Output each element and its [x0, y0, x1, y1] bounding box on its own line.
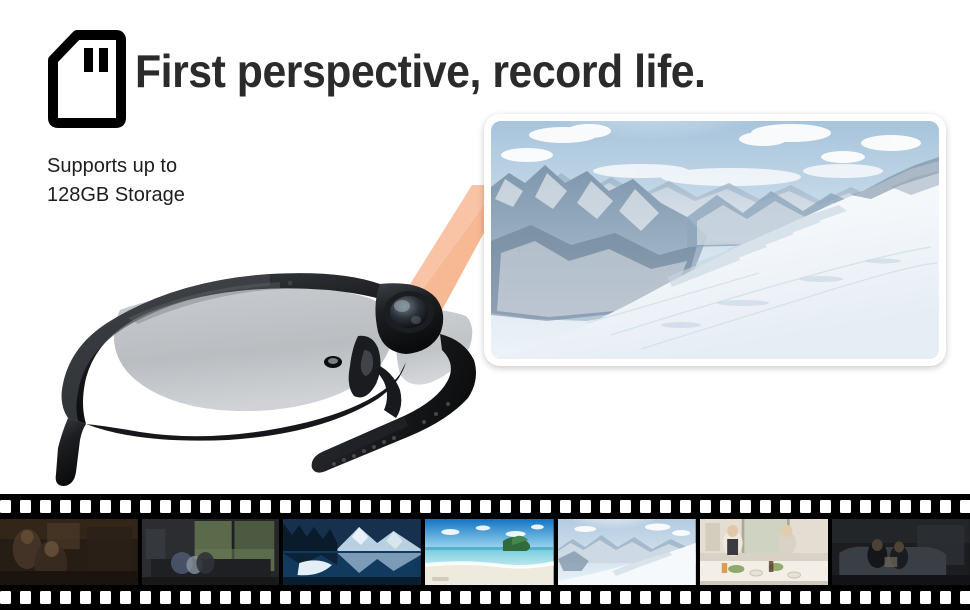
sprocket-hole — [720, 500, 731, 513]
sprocket-hole — [40, 591, 51, 604]
sprocket-hole — [120, 591, 131, 604]
sprocket-hole — [340, 500, 351, 513]
film-frame-couple-on-sofa-night[interactable] — [832, 519, 970, 585]
storage-note-line2: 128GB Storage — [47, 181, 185, 210]
sprocket-hole — [140, 591, 151, 604]
sprocket-hole — [280, 500, 291, 513]
sprocket-hole — [300, 500, 311, 513]
sprocket-hole — [260, 591, 271, 604]
sprocket-hole — [560, 591, 571, 604]
sprocket-hole — [300, 591, 311, 604]
sprocket-hole — [400, 500, 411, 513]
sprocket-hole — [480, 591, 491, 604]
sprocket-hole — [260, 500, 271, 513]
sprocket-hole — [440, 500, 451, 513]
sprocket-hole — [840, 591, 851, 604]
sd-card-icon — [46, 30, 128, 128]
sprocket-hole — [580, 500, 591, 513]
sprocket-hole — [900, 500, 911, 513]
sprocket-hole — [900, 591, 911, 604]
sprocket-hole — [20, 500, 31, 513]
sprocket-hole — [120, 500, 131, 513]
film-frame-tropical-beach[interactable] — [425, 519, 554, 585]
sprocket-hole — [500, 591, 511, 604]
sprocket-hole — [380, 591, 391, 604]
sprocket-hole — [200, 500, 211, 513]
sprocket-row-bottom — [0, 591, 970, 604]
sprocket-hole — [80, 591, 91, 604]
film-strip — [0, 494, 970, 610]
sprocket-hole — [0, 500, 11, 513]
sprocket-hole — [680, 591, 691, 604]
sprocket-hole — [180, 500, 191, 513]
sprocket-hole — [620, 500, 631, 513]
sprocket-hole — [540, 500, 551, 513]
sprocket-hole — [460, 591, 471, 604]
sprocket-hole — [0, 591, 11, 604]
sprocket-hole — [720, 591, 731, 604]
sprocket-hole — [320, 500, 331, 513]
sprocket-hole — [740, 591, 751, 604]
sprocket-hole — [80, 500, 91, 513]
sprocket-hole — [340, 591, 351, 604]
sprocket-hole — [420, 500, 431, 513]
sprocket-hole — [220, 500, 231, 513]
sprocket-hole — [640, 591, 651, 604]
sprocket-hole — [240, 500, 251, 513]
sprocket-hole — [160, 500, 171, 513]
sprocket-hole — [140, 500, 151, 513]
sprocket-hole — [360, 500, 371, 513]
sprocket-hole — [400, 591, 411, 604]
sprocket-hole — [160, 591, 171, 604]
photo-image — [491, 121, 939, 359]
sprocket-hole — [920, 591, 931, 604]
sprocket-hole — [860, 591, 871, 604]
sprocket-hole — [480, 500, 491, 513]
sprocket-hole — [760, 500, 771, 513]
sprocket-hole — [380, 500, 391, 513]
sprocket-hole — [880, 500, 891, 513]
sprocket-hole — [740, 500, 751, 513]
sprocket-hole — [520, 500, 531, 513]
sprocket-hole — [560, 500, 571, 513]
sprocket-hole — [820, 500, 831, 513]
sprocket-hole — [580, 591, 591, 604]
sprocket-hole — [40, 500, 51, 513]
sprocket-hole — [200, 591, 211, 604]
film-frame-alpine-lake-reflection[interactable] — [283, 519, 421, 585]
camera-sunglasses — [28, 240, 498, 490]
product-banner: First perspective, record life. Supports… — [0, 0, 970, 610]
sprocket-hole — [500, 500, 511, 513]
sprocket-hole — [440, 591, 451, 604]
sprocket-hole — [820, 591, 831, 604]
sprocket-hole — [920, 500, 931, 513]
film-frame-family-indoors-dark[interactable] — [0, 519, 138, 585]
sprocket-hole — [320, 591, 331, 604]
sprocket-hole — [700, 591, 711, 604]
sprocket-hole — [280, 591, 291, 604]
sprocket-hole — [180, 591, 191, 604]
sprocket-hole — [100, 591, 111, 604]
sprocket-hole — [840, 500, 851, 513]
sprocket-hole — [860, 500, 871, 513]
sprocket-hole — [60, 591, 71, 604]
sprocket-hole — [20, 591, 31, 604]
sprocket-hole — [960, 591, 970, 604]
sprocket-hole — [940, 591, 951, 604]
sprocket-hole — [660, 591, 671, 604]
sprocket-hole — [960, 500, 970, 513]
film-frame-snowy-mountain-range[interactable] — [558, 519, 696, 585]
sprocket-row-top — [0, 500, 970, 513]
storage-note-line1: Supports up to — [47, 152, 185, 181]
sprocket-hole — [220, 591, 231, 604]
sprocket-hole — [880, 591, 891, 604]
snowy-mountain-photo — [484, 114, 946, 366]
sprocket-hole — [600, 591, 611, 604]
film-frame-cafe-breakfast[interactable] — [700, 519, 829, 585]
sprocket-hole — [460, 500, 471, 513]
sprocket-hole — [800, 500, 811, 513]
sprocket-hole — [640, 500, 651, 513]
sprocket-hole — [600, 500, 611, 513]
sprocket-hole — [100, 500, 111, 513]
sprocket-hole — [240, 591, 251, 604]
sprocket-hole — [780, 500, 791, 513]
page-title: First perspective, record life. — [135, 44, 705, 98]
sprocket-hole — [700, 500, 711, 513]
storage-note: Supports up to 128GB Storage — [47, 152, 185, 210]
film-frames — [0, 519, 970, 585]
sprocket-hole — [420, 591, 431, 604]
sprocket-hole — [680, 500, 691, 513]
sprocket-hole — [940, 500, 951, 513]
sprocket-hole — [620, 591, 631, 604]
sprocket-hole — [520, 591, 531, 604]
sprocket-hole — [800, 591, 811, 604]
sprocket-hole — [660, 500, 671, 513]
sprocket-hole — [760, 591, 771, 604]
sprocket-hole — [780, 591, 791, 604]
sprocket-hole — [60, 500, 71, 513]
film-frame-living-room-window[interactable] — [142, 519, 280, 585]
sprocket-hole — [360, 591, 371, 604]
sprocket-hole — [540, 591, 551, 604]
